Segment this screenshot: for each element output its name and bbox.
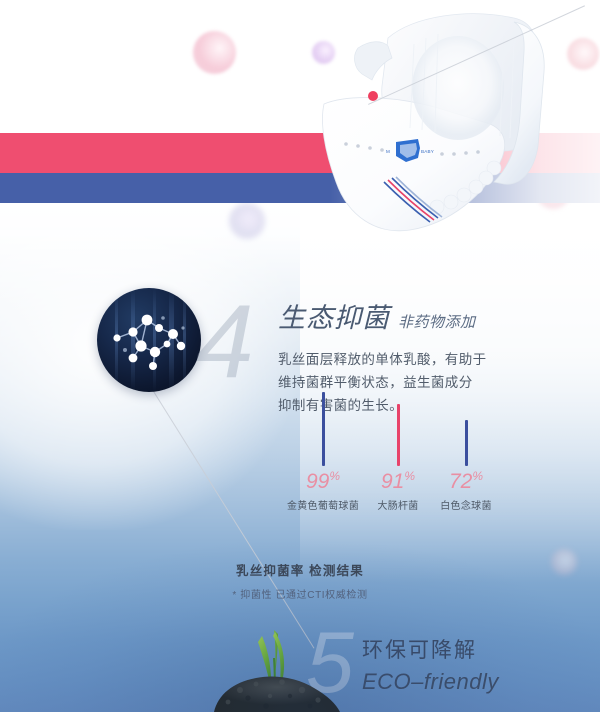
section-four-heading: 生态抑菌 非药物添加 [278, 296, 476, 335]
heading-sub-text: 非药物添加 [398, 311, 476, 332]
molecule-bacteria-icon [97, 288, 201, 392]
bar-2 [465, 420, 468, 466]
body-line-1: 乳丝面层释放的单体乳酸，有助于 [278, 348, 538, 371]
body-line-2: 维持菌群平衡状态，益生菌成分 [278, 371, 538, 394]
bar-1 [397, 404, 400, 466]
bokeh-circle-violet-mid [229, 203, 265, 239]
svg-text:M: M [386, 149, 390, 154]
bar-0 [322, 392, 325, 466]
background-vignette [0, 470, 600, 712]
heading-main-text: 生态抑菌 [278, 296, 390, 335]
diaper-product-photo: M BABY [318, 0, 590, 242]
bokeh-circle-pink-large [193, 31, 236, 74]
svg-text:BABY: BABY [421, 149, 434, 154]
product-detail-page: M BABY [0, 0, 600, 712]
section-numeral-4: 4 [196, 290, 254, 394]
